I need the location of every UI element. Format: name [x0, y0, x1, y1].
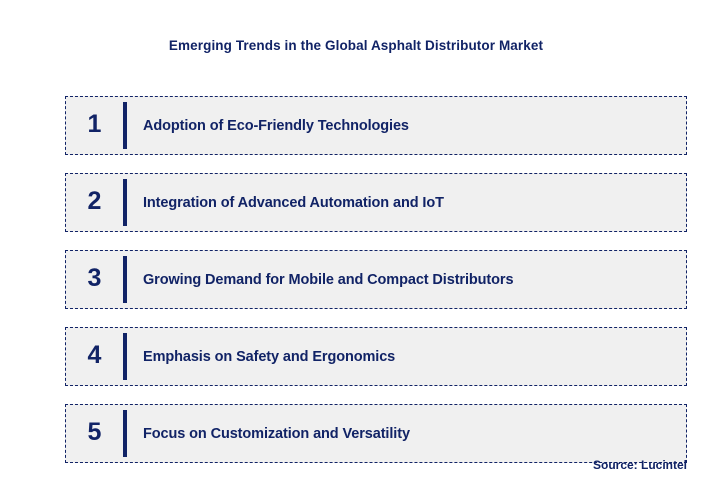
list-item[interactable]: 5 Focus on Customization and Versatility — [65, 404, 687, 463]
trend-list: 1 Adoption of Eco-Friendly Technologies … — [65, 96, 687, 463]
trends-infographic: Emerging Trends in the Global Asphalt Di… — [0, 0, 712, 501]
trend-number: 4 — [66, 343, 123, 370]
trend-number: 1 — [66, 112, 123, 139]
trend-label: Emphasis on Safety and Ergonomics — [127, 349, 686, 365]
trend-label: Adoption of Eco-Friendly Technologies — [127, 118, 686, 134]
trend-label: Focus on Customization and Versatility — [127, 426, 686, 442]
trend-number: 2 — [66, 189, 123, 216]
list-item[interactable]: 2 Integration of Advanced Automation and… — [65, 173, 687, 232]
list-item[interactable]: 1 Adoption of Eco-Friendly Technologies — [65, 96, 687, 155]
trend-number: 5 — [66, 420, 123, 447]
list-item[interactable]: 3 Growing Demand for Mobile and Compact … — [65, 250, 687, 309]
source-note: Source: Lucintel — [593, 458, 687, 472]
trend-label: Integration of Advanced Automation and I… — [127, 195, 686, 211]
page-title: Emerging Trends in the Global Asphalt Di… — [0, 38, 712, 53]
list-item[interactable]: 4 Emphasis on Safety and Ergonomics — [65, 327, 687, 386]
trend-number: 3 — [66, 266, 123, 293]
trend-label: Growing Demand for Mobile and Compact Di… — [127, 272, 686, 288]
